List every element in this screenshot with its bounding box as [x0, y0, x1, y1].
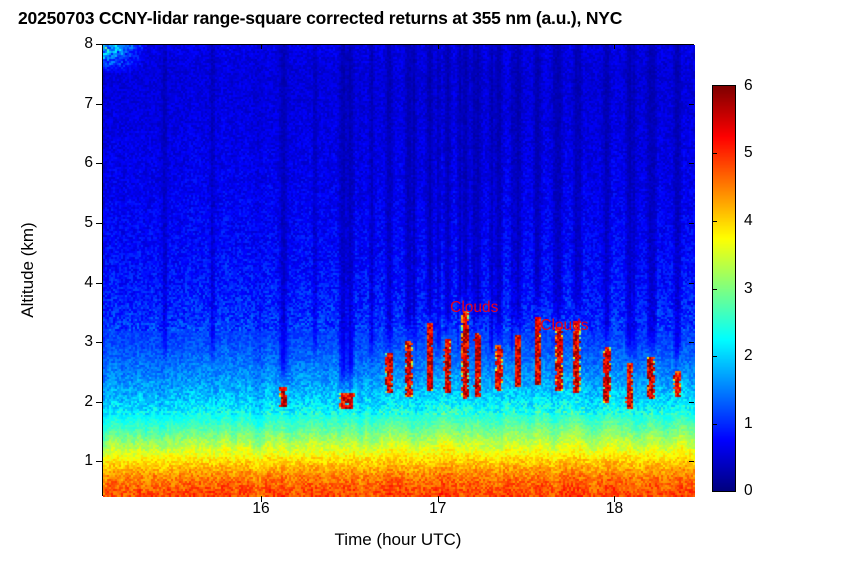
y-tick-mark-right	[689, 223, 694, 224]
x-tick-label: 18	[606, 500, 623, 518]
y-tick-mark	[96, 283, 102, 284]
colorbar-tick-label: 3	[744, 280, 753, 298]
y-tick-mark-right	[689, 104, 694, 105]
x-tick-label: 16	[252, 500, 269, 518]
colorbar-tick-mark	[712, 356, 717, 357]
y-tick-mark-right	[689, 44, 694, 45]
x-tick-mark-top	[614, 44, 615, 49]
colorbar-tick-mark	[712, 153, 717, 154]
colorbar-tick-label: 0	[744, 482, 753, 500]
lidar-heatmap-canvas	[103, 45, 695, 497]
y-tick-mark	[96, 163, 102, 164]
x-axis-title: Time (hour UTC)	[335, 530, 462, 550]
y-tick-mark	[96, 104, 102, 105]
y-tick-mark-right	[689, 283, 694, 284]
plot-area	[102, 44, 694, 496]
x-tick-mark-top	[261, 44, 262, 49]
y-tick-label: 6	[84, 154, 93, 172]
colorbar-tick-label: 1	[744, 415, 753, 433]
colorbar-tick-mark	[712, 289, 717, 290]
x-tick-label: 17	[429, 500, 446, 518]
y-tick-mark-right	[689, 461, 694, 462]
y-tick-mark	[96, 44, 102, 45]
y-tick-mark-right	[689, 342, 694, 343]
y-tick-label: 8	[84, 35, 93, 53]
figure-title: 20250703 CCNY-lidar range-square correct…	[18, 8, 848, 29]
y-tick-label: 3	[84, 333, 93, 351]
y-tick-label: 4	[84, 274, 93, 292]
colorbar-tick-label: 5	[744, 144, 753, 162]
y-tick-label: 1	[84, 452, 93, 470]
y-tick-mark	[96, 342, 102, 343]
colorbar-tick-label: 6	[744, 77, 753, 95]
colorbar-tick-label: 4	[744, 212, 753, 230]
y-tick-mark-right	[689, 163, 694, 164]
colorbar-tick-mark	[712, 424, 717, 425]
y-tick-label: 7	[84, 95, 93, 113]
y-tick-label: 5	[84, 214, 93, 232]
y-tick-mark	[96, 223, 102, 224]
y-axis-title: Altitude (km)	[18, 222, 38, 317]
lidar-figure: 20250703 CCNY-lidar range-square correct…	[0, 0, 864, 576]
y-tick-mark	[96, 461, 102, 462]
x-tick-mark-top	[438, 44, 439, 49]
colorbar-tick-label: 2	[744, 347, 753, 365]
colorbar-tick-mark	[712, 221, 717, 222]
y-tick-mark	[96, 402, 102, 403]
y-tick-label: 2	[84, 393, 93, 411]
y-tick-mark-right	[689, 402, 694, 403]
